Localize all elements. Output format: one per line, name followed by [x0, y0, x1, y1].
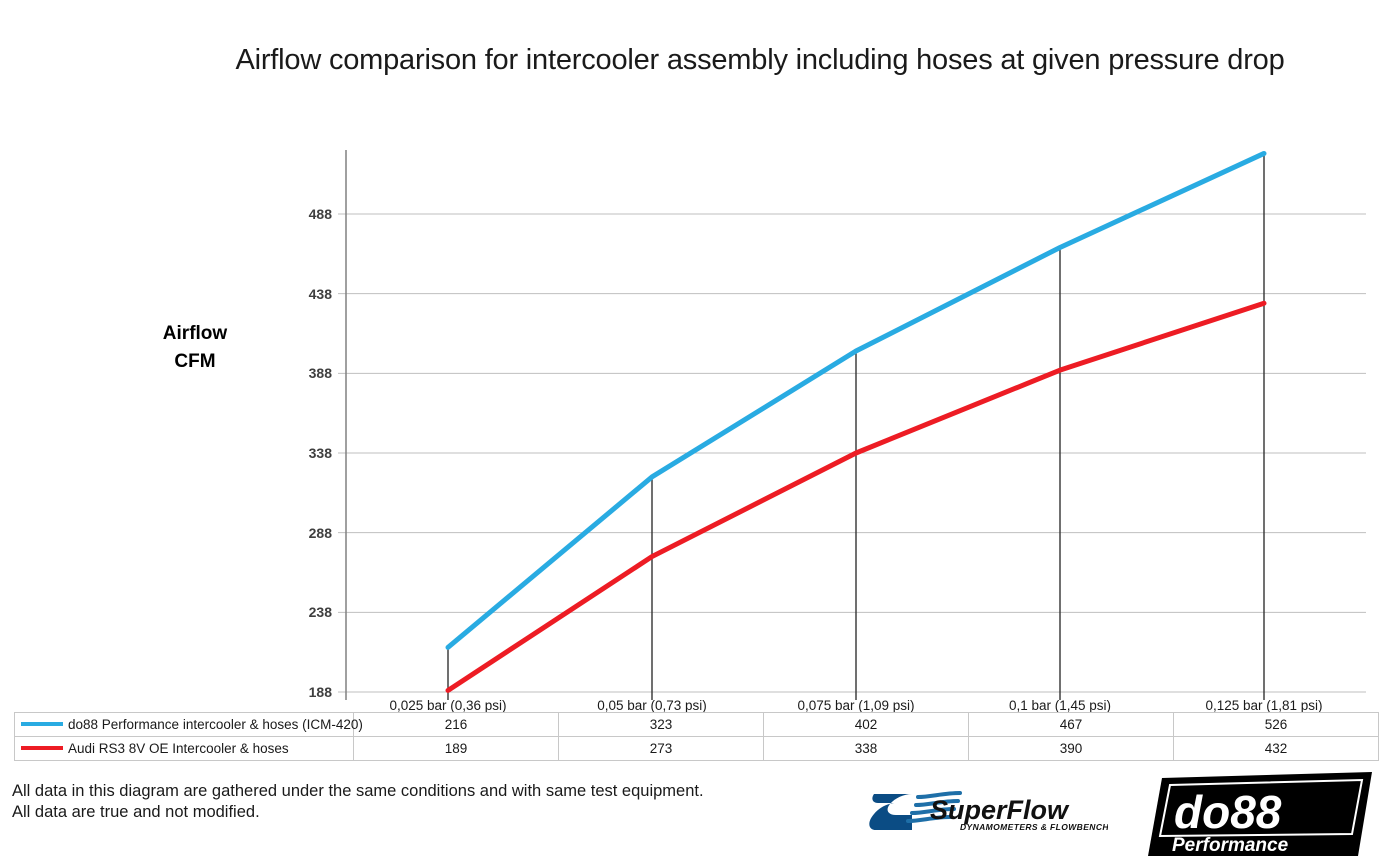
y-axis-tick-label: 288	[272, 526, 332, 540]
data-cell: 467	[969, 713, 1174, 737]
data-cell: 216	[354, 713, 559, 737]
superflow-logo: SuperFlow DYNAMOMETERS & FLOWBENCHES	[868, 784, 1108, 840]
y-axis-tick-label: 238	[272, 605, 332, 619]
data-cell: 526	[1174, 713, 1379, 737]
do88-wordmark: do88	[1174, 786, 1282, 838]
y-axis-tick-label: 438	[272, 287, 332, 301]
disclaimer-text: All data in this diagram are gathered un…	[12, 781, 704, 823]
data-cell: 323	[559, 713, 764, 737]
table-row: Audi RS3 8V OE Intercooler & hoses189273…	[15, 737, 1379, 761]
do88-tagline: Performance	[1172, 835, 1289, 856]
y-axis-tick-label: 338	[272, 446, 332, 460]
legend-label: Audi RS3 8V OE Intercooler & hoses	[68, 741, 289, 756]
data-cell: 189	[354, 737, 559, 761]
superflow-wordmark: SuperFlow	[930, 795, 1070, 825]
data-table: do88 Performance intercooler & hoses (IC…	[14, 712, 1379, 761]
superflow-tagline: DYNAMOMETERS & FLOWBENCHES	[960, 822, 1108, 832]
data-cell: 273	[559, 737, 764, 761]
disclaimer-line1: All data in this diagram are gathered un…	[12, 781, 704, 802]
superflow-logo-mark: SuperFlow DYNAMOMETERS & FLOWBENCHES	[868, 784, 1108, 840]
table-row: do88 Performance intercooler & hoses (IC…	[15, 713, 1379, 737]
do88-logo: do88 Performance	[1148, 772, 1372, 856]
legend-cell: do88 Performance intercooler & hoses (IC…	[15, 713, 354, 737]
data-cell: 338	[764, 737, 969, 761]
legend-swatch-icon	[21, 722, 63, 726]
legend-cell: Audi RS3 8V OE Intercooler & hoses	[15, 737, 354, 761]
y-axis-tick-label: 488	[272, 207, 332, 221]
y-axis-tick-label: 388	[272, 366, 332, 380]
do88-logo-mark: do88 Performance	[1148, 772, 1372, 856]
data-cell: 432	[1174, 737, 1379, 761]
data-cell: 402	[764, 713, 969, 737]
data-cell: 390	[969, 737, 1174, 761]
legend-swatch-icon	[21, 746, 63, 750]
disclaimer-line2: All data are true and not modified.	[12, 802, 704, 823]
legend-label: do88 Performance intercooler & hoses (IC…	[68, 717, 363, 732]
y-axis-tick-label: 188	[272, 685, 332, 699]
data-table-body: do88 Performance intercooler & hoses (IC…	[15, 713, 1379, 761]
category-tick-lines	[448, 153, 1264, 700]
